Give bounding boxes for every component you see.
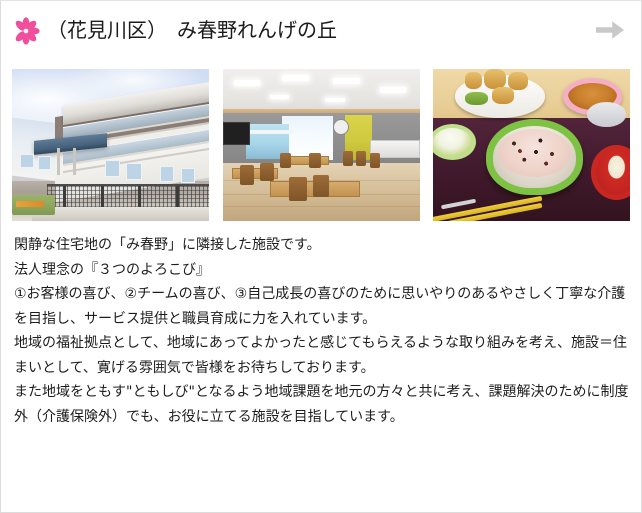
description-line: 閑静な住宅地の「み春野」に隣接した施設です。 [14,233,629,258]
description-line: また地域をともす"ともしび"となるよう地域課題を地元の方々と共に考え、課題解決の… [14,380,629,429]
meal-tray-illustration [433,69,630,221]
description-line: 法人理念の『３つのよろこび』 [14,258,629,283]
photo-meal-tray[interactable] [433,69,630,221]
card-header: （花見川区） み春野れんげの丘 [1,1,641,59]
dining-room-illustration [223,69,420,221]
description-line: 地域の福祉拠点として、地域にあってよかったと感じてもらえるような取り組みを考え、… [14,331,629,380]
photo-facility-exterior[interactable] [12,69,209,221]
description-line: ①お客様の喜び、②チームの喜び、③自己成長の喜びのために思いやりのあるやさしく丁… [14,282,629,331]
cherry-blossom-icon [11,16,41,46]
page-title: （花見川区） み春野れんげの丘 [47,18,593,42]
facility-exterior-illustration [12,69,209,221]
description-text: 閑静な住宅地の「み春野」に隣接した施設です。 法人理念の『３つのよろこび』 ①お… [1,221,641,429]
photo-dining-common-room[interactable] [223,69,420,221]
facility-card: （花見川区） み春野れんげの丘 [0,0,642,513]
arrow-right-icon[interactable] [593,16,627,44]
photo-gallery [1,69,641,221]
